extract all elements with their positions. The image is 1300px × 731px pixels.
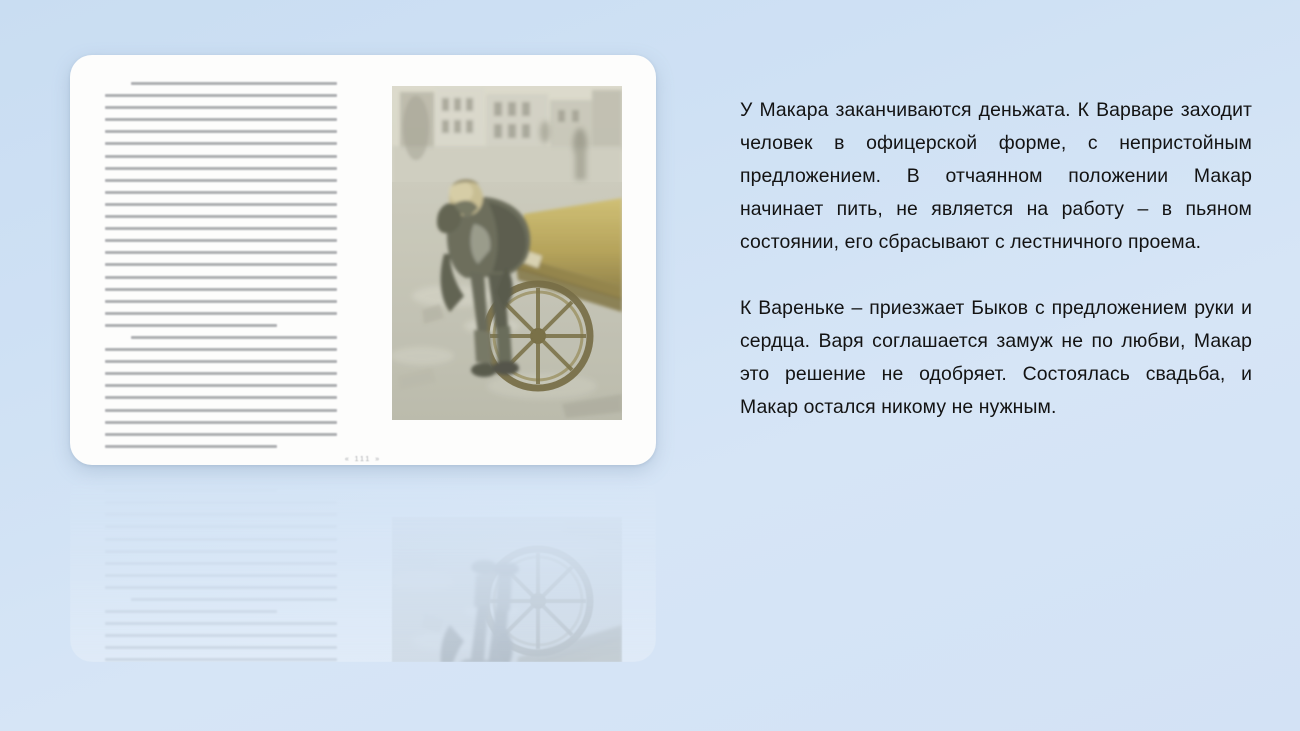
book-body-text bbox=[105, 500, 337, 662]
book-page-content: « 111 » bbox=[70, 55, 656, 465]
book-page-card: « 111 » bbox=[70, 55, 656, 465]
summary-paragraph-2: К Вареньке – приезжает Быков с предложен… bbox=[740, 292, 1252, 424]
book-card-surface: « 111 » bbox=[70, 55, 656, 465]
book-illustration bbox=[392, 86, 622, 420]
page-folio: « 111 » bbox=[70, 456, 656, 463]
page-folio: « 111 » bbox=[70, 474, 656, 481]
book-body-text bbox=[105, 82, 337, 437]
street-scene-watercolor-icon bbox=[392, 86, 622, 420]
summary-text-block: У Макара заканчиваются деньжата. К Варва… bbox=[740, 94, 1252, 424]
street-scene-watercolor-icon bbox=[392, 517, 622, 662]
book-page-content: « 111 » bbox=[70, 472, 656, 662]
slide-canvas: « 111 » bbox=[0, 0, 1300, 731]
book-illustration bbox=[392, 517, 622, 662]
card-reflection: « 111 » bbox=[70, 472, 656, 662]
summary-paragraph-1: У Макара заканчиваются деньжата. К Варва… bbox=[740, 94, 1252, 259]
